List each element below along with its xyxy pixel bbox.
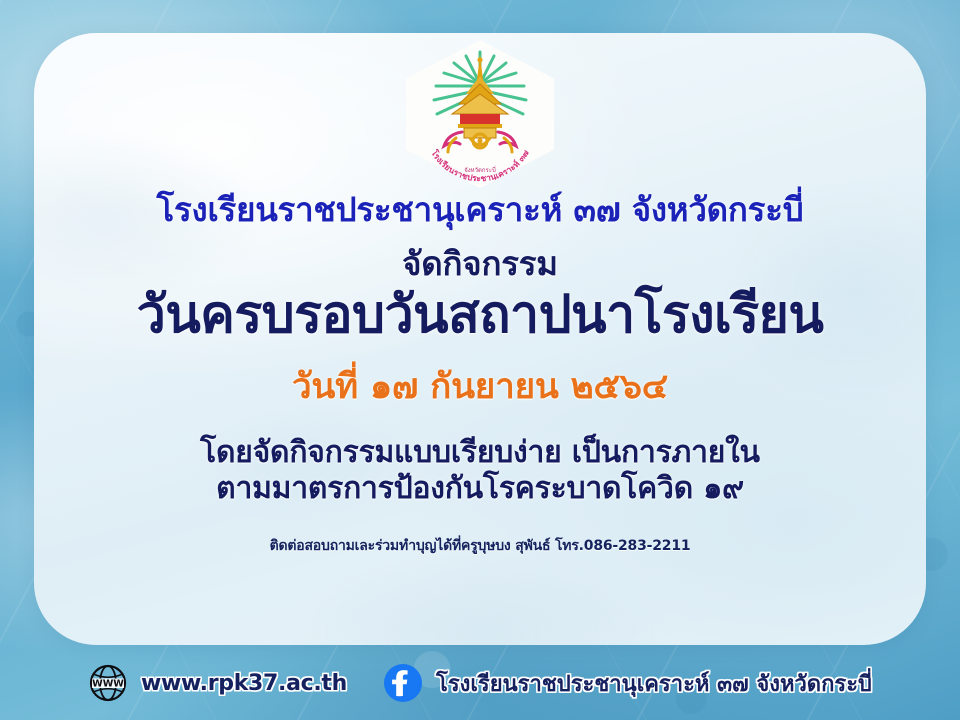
website-group[interactable]: WWW www.rpk37.ac.th <box>88 663 347 703</box>
school-emblem-icon: โรงเรียนราชประชานุเคราะห์ ๓๗ จังหวัดกระบ… <box>406 40 554 188</box>
school-name-line: โรงเรียนราชประชานุเคราะห์ ๓๗ จังหวัดกระบ… <box>34 192 926 228</box>
note-line-1: โดยจัดกิจกรรมแบบเรียบง่าย เป็นการภายใน <box>34 436 926 469</box>
svg-text:WWW: WWW <box>92 678 124 689</box>
logo-container: โรงเรียนราชประชานุเคราะห์ ๓๗ จังหวัดกระบ… <box>0 40 960 188</box>
activity-label-line: จัดกิจกรรม <box>34 246 926 282</box>
footer-bar: WWW www.rpk37.ac.th โรงเรียนราชประชานุเค… <box>0 646 960 720</box>
facebook-group[interactable]: โรงเรียนราชประชานุเคราะห์ ๓๗ จังหวัดกระบ… <box>383 663 872 703</box>
note-line-2: ตามมาตรการป้องกันโรคระบาดโควิด ๑๙ <box>34 472 926 505</box>
emblem-sub-text: จังหวัดกระบี่ <box>464 166 496 174</box>
emblem-arc-text: โรงเรียนราชประชานุเคราะห์ ๓๗ <box>429 147 531 183</box>
poster-text-block: โรงเรียนราชประชานุเคราะห์ ๓๗ จังหวัดกระบ… <box>34 192 926 555</box>
event-title-line: วันครบรอบวันสถาปนาโรงเรียน <box>34 287 926 344</box>
website-url-text[interactable]: www.rpk37.ac.th <box>141 671 347 696</box>
svg-text:โรงเรียนราชประชานุเคราะห์ ๓๗: โรงเรียนราชประชานุเคราะห์ ๓๗ <box>429 147 531 183</box>
poster-canvas: โรงเรียนราชประชานุเคราะห์ ๓๗ จังหวัดกระบ… <box>0 0 960 720</box>
globe-www-icon: WWW <box>88 663 128 703</box>
event-date-line: วันที่ ๑๗ กันยายน ๒๕๖๔ <box>34 368 926 407</box>
contact-info-line: ติดต่อสอบถามเละร่วมทำบุญได้ที่ครูบุษบง ส… <box>34 539 926 554</box>
facebook-icon <box>383 663 423 703</box>
facebook-page-text[interactable]: โรงเรียนราชประชานุเคราะห์ ๓๗ จังหวัดกระบ… <box>436 666 872 701</box>
